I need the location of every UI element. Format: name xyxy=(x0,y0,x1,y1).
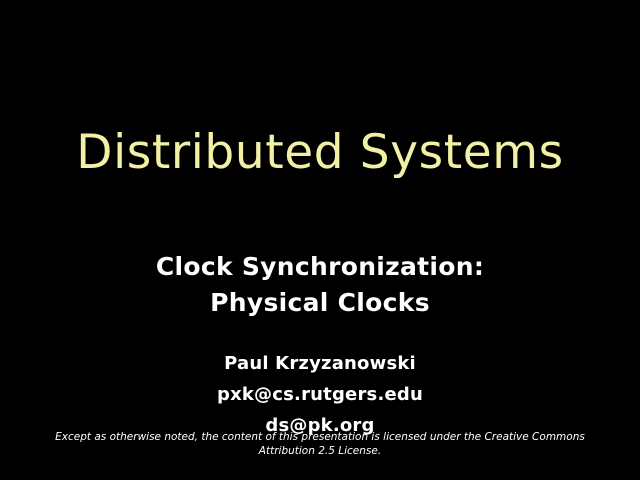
author-email-primary: pxk@cs.rutgers.edu xyxy=(0,380,640,411)
title-block: Distributed Systems xyxy=(0,128,640,179)
page-title: Distributed Systems xyxy=(0,128,640,179)
license-notice: Except as otherwise noted, the content o… xyxy=(0,430,640,458)
author-block: Paul Krzyzanowski pxk@cs.rutgers.edu ds@… xyxy=(0,349,640,442)
subtitle-line-1: Clock Synchronization: xyxy=(0,249,640,285)
license-line-2: Attribution 2.5 License. xyxy=(0,444,640,458)
license-line-1: Except as otherwise noted, the content o… xyxy=(0,430,640,444)
presentation-title-slide: Distributed Systems Clock Synchronizatio… xyxy=(0,0,640,480)
subtitle-block: Clock Synchronization: Physical Clocks xyxy=(0,249,640,320)
author-name: Paul Krzyzanowski xyxy=(0,349,640,380)
subtitle-line-2: Physical Clocks xyxy=(0,285,640,321)
